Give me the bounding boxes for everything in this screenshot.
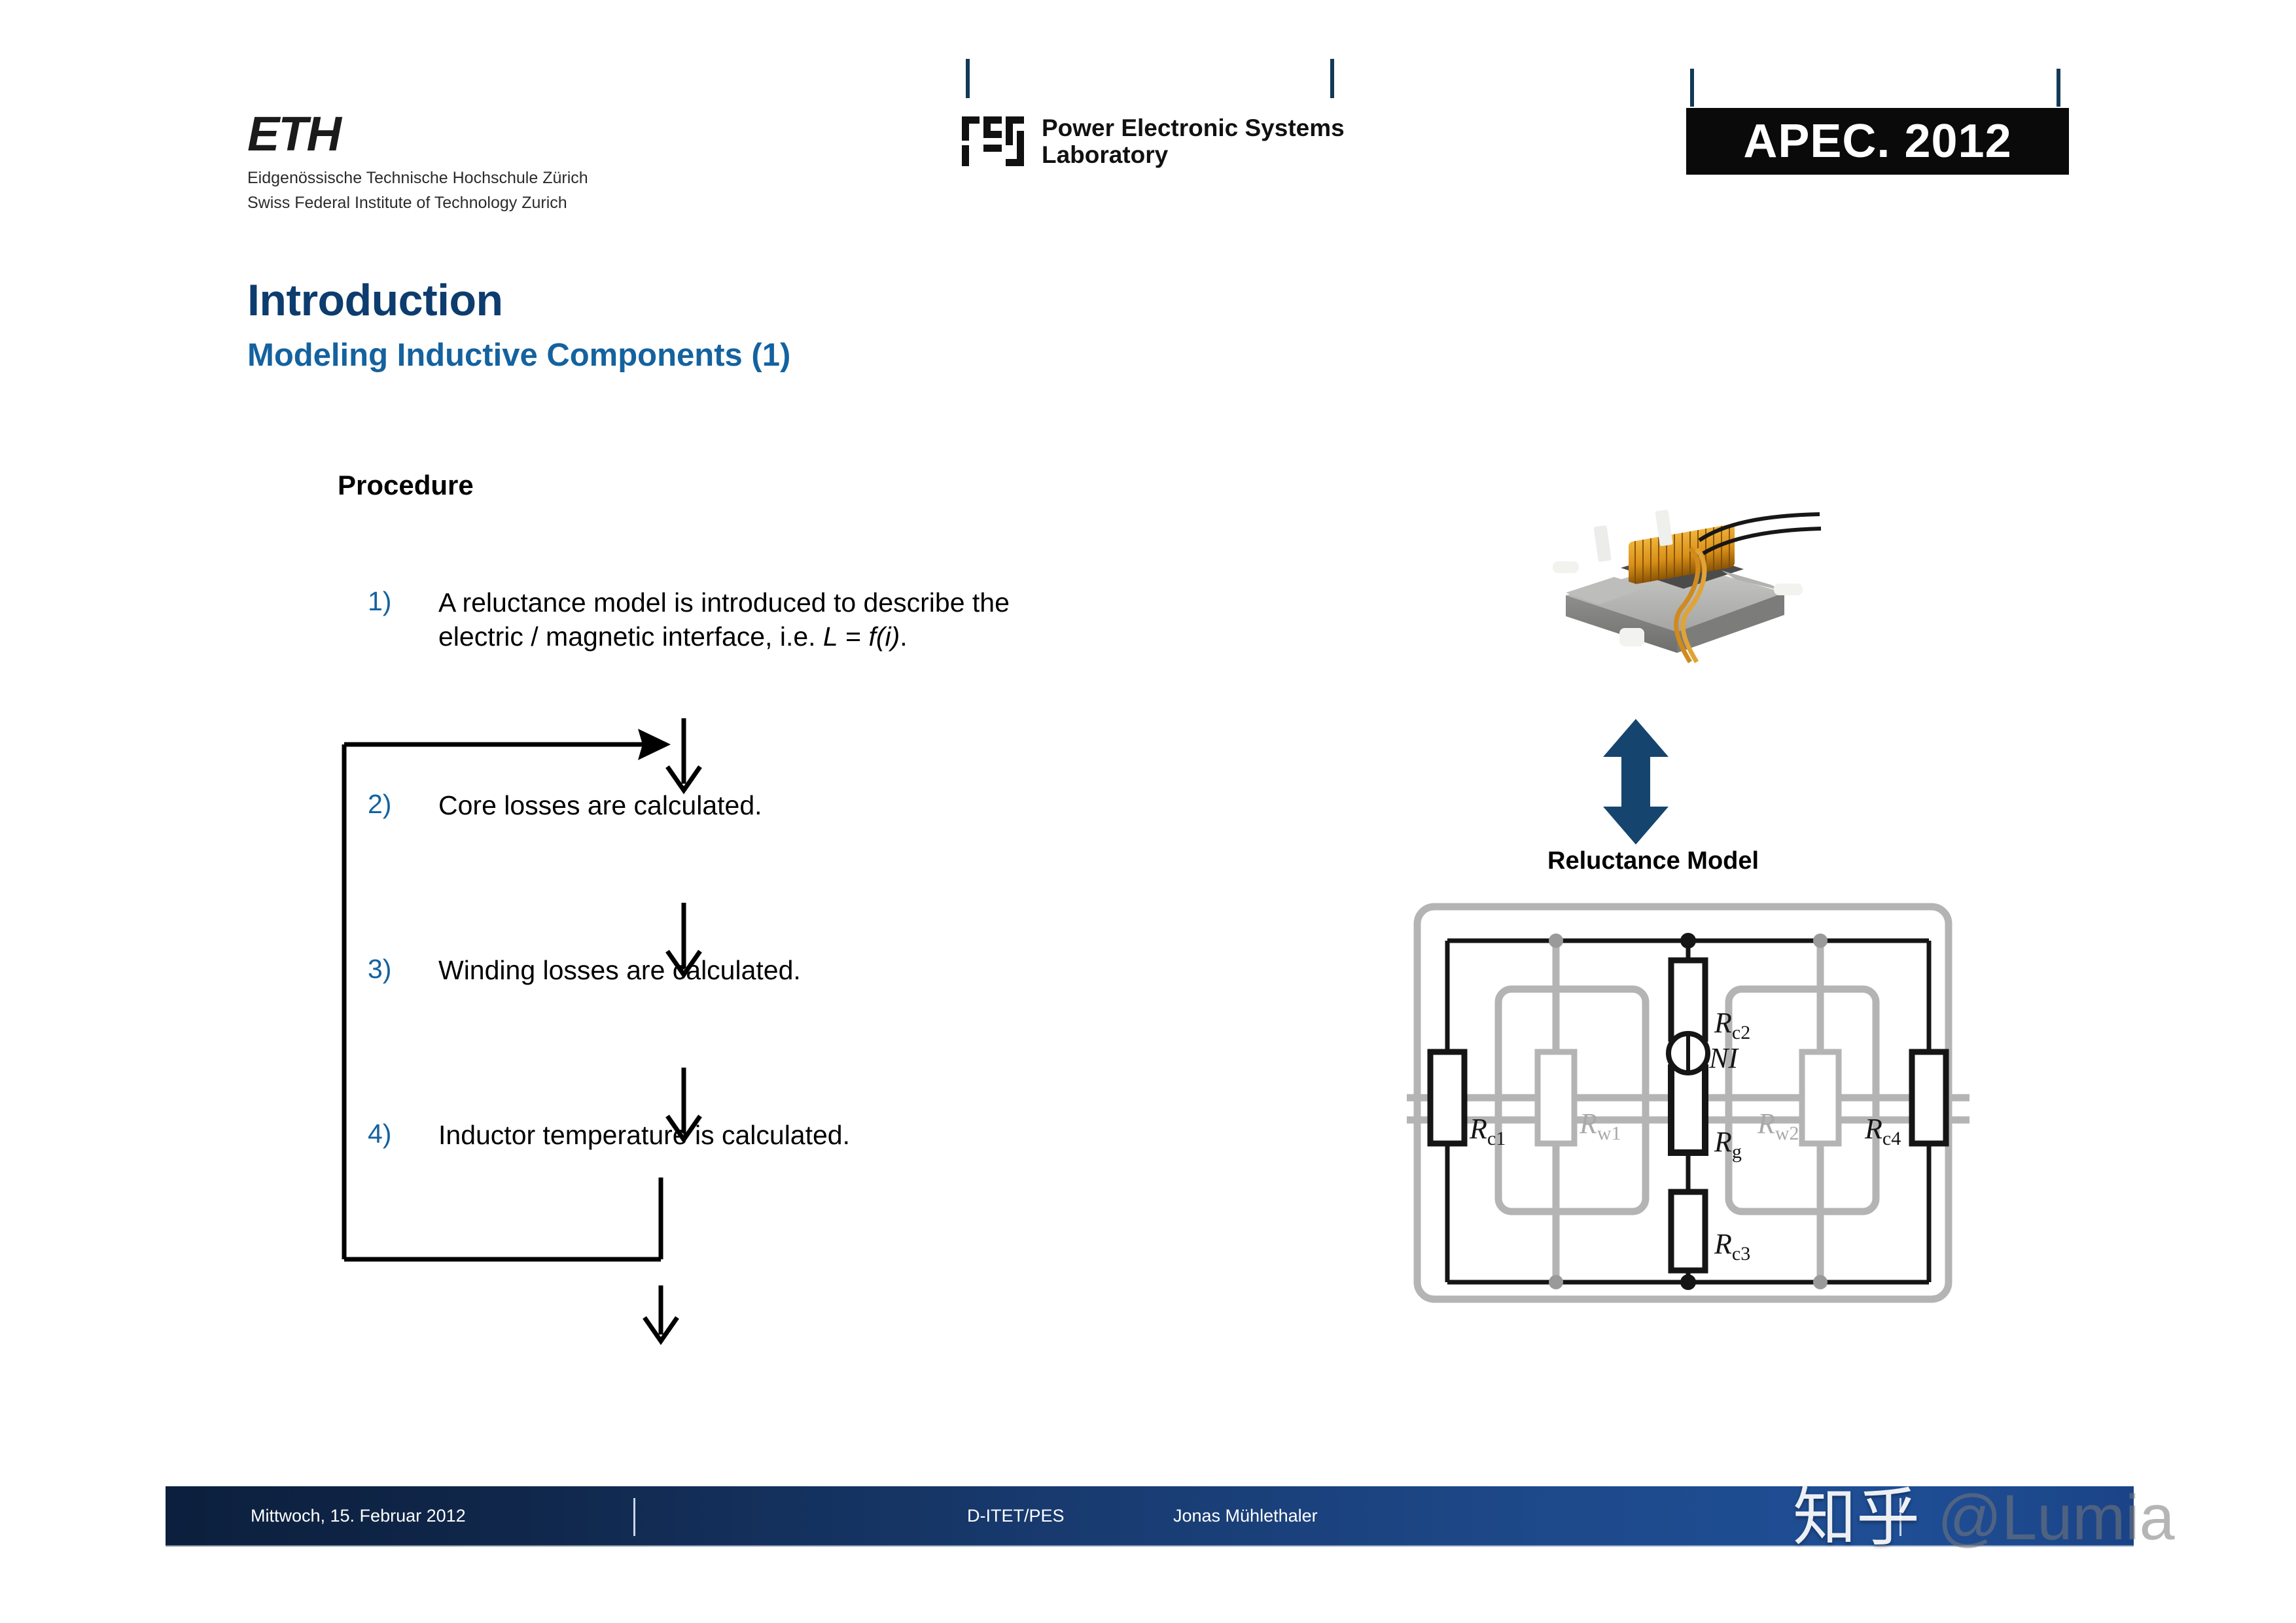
label-Rc3: Rc3 xyxy=(1714,1228,1750,1265)
eth-subtitle-de: Eidgenössische Technische Hochschule Zür… xyxy=(247,167,588,190)
footer-dept: D-ITET/PES xyxy=(967,1506,1065,1526)
footer-author: Jonas Mühlethaler xyxy=(1173,1506,1318,1526)
reluctance-model-circuit: Rc1 Rc2 Rg Rc3 Rc4 NI Rw1 Rw2 xyxy=(1407,890,1969,1335)
resistor-Rc1 xyxy=(1430,1052,1464,1143)
slide-canvas: ETH Eidgenössische Technische Hochschule… xyxy=(0,0,2296,1623)
pes-bracket-icon xyxy=(962,116,1027,166)
junction-bottom xyxy=(1680,1274,1696,1290)
resistor-Rw1 xyxy=(1538,1052,1574,1143)
junction-left-bottom xyxy=(1549,1275,1563,1289)
step1-math-i: (i) xyxy=(876,621,900,652)
step-text-1: A reluctance model is introduced to desc… xyxy=(438,586,1010,654)
junction-right-top xyxy=(1813,934,1828,948)
procedure-step-1: 1) A reluctance model is introduced to d… xyxy=(368,586,1284,654)
pes-line-2: Laboratory xyxy=(1042,141,1345,168)
arrow-step1-to-step2 xyxy=(667,718,700,790)
resistor-Rc2 xyxy=(1671,960,1705,1039)
apec-logo: APEC. 2012 xyxy=(1686,108,2069,175)
footer-bar: Mittwoch, 15. Februar 2012 D-ITET/PES Jo… xyxy=(166,1486,2134,1546)
resistor-Rw2 xyxy=(1802,1052,1839,1143)
junction-top xyxy=(1680,933,1696,949)
eth-logo: ETH Eidgenössische Technische Hochschule… xyxy=(247,110,588,215)
apec-wordmark: APEC. 2012 xyxy=(1743,114,2011,168)
eth-subtitle-en: Swiss Federal Institute of Technology Zu… xyxy=(247,192,588,215)
reluctance-model-caption: Reluctance Model xyxy=(1547,847,1759,875)
feedback-arrowhead xyxy=(638,729,671,760)
junction-right-bottom xyxy=(1813,1275,1828,1289)
footer-date: Mittwoch, 15. Februar 2012 xyxy=(251,1506,466,1526)
step1-math-L: L xyxy=(823,621,838,652)
step1-line1: A reluctance model is introduced to desc… xyxy=(438,587,1010,618)
eth-wordmark: ETH xyxy=(247,110,588,158)
step-number-1: 1) xyxy=(368,586,438,654)
arrow-flow-exit xyxy=(645,1285,677,1341)
step1-line2: electric / magnetic interface, i.e. xyxy=(438,621,823,652)
page-title: Introduction xyxy=(247,275,503,326)
footer-divider-right xyxy=(1899,1498,1901,1536)
step1-math-f: f xyxy=(868,621,875,652)
tick-mark-pes-right xyxy=(1330,59,1334,98)
arrow-step3-to-step4 xyxy=(667,1068,700,1140)
page-subtitle: Modeling Inductive Components (1) xyxy=(247,337,790,374)
pes-line-1: Power Electronic Systems xyxy=(1042,114,1345,141)
tick-mark-apec-left xyxy=(1690,69,1694,107)
procedure-flow-diagram xyxy=(314,707,772,1361)
tick-mark-apec-right xyxy=(2057,69,2060,107)
procedure-heading: Procedure xyxy=(338,470,474,501)
label-Rg: Rg xyxy=(1714,1126,1742,1162)
step1-tail: . xyxy=(900,621,907,652)
arrow-step2-to-step3 xyxy=(667,903,700,975)
inductor-photo xyxy=(1528,497,1822,693)
label-Rw1: Rw1 xyxy=(1579,1108,1621,1144)
label-NI: NI xyxy=(1708,1042,1739,1074)
resistor-Rg xyxy=(1671,1068,1705,1153)
footer-divider-left xyxy=(633,1498,635,1536)
junction-left-top xyxy=(1549,934,1563,948)
pes-logo: Power Electronic Systems Laboratory xyxy=(962,114,1345,169)
bidirectional-arrow-icon xyxy=(1597,716,1675,847)
resistor-Rc3 xyxy=(1671,1192,1705,1270)
feedback-loop-path xyxy=(344,744,661,1259)
pes-wordmark: Power Electronic Systems Laboratory xyxy=(1042,114,1345,169)
resistor-Rc4 xyxy=(1912,1052,1946,1143)
tick-mark-pes-left xyxy=(966,59,970,98)
step1-eq: = xyxy=(838,621,869,652)
label-Rw2: Rw2 xyxy=(1757,1108,1799,1144)
